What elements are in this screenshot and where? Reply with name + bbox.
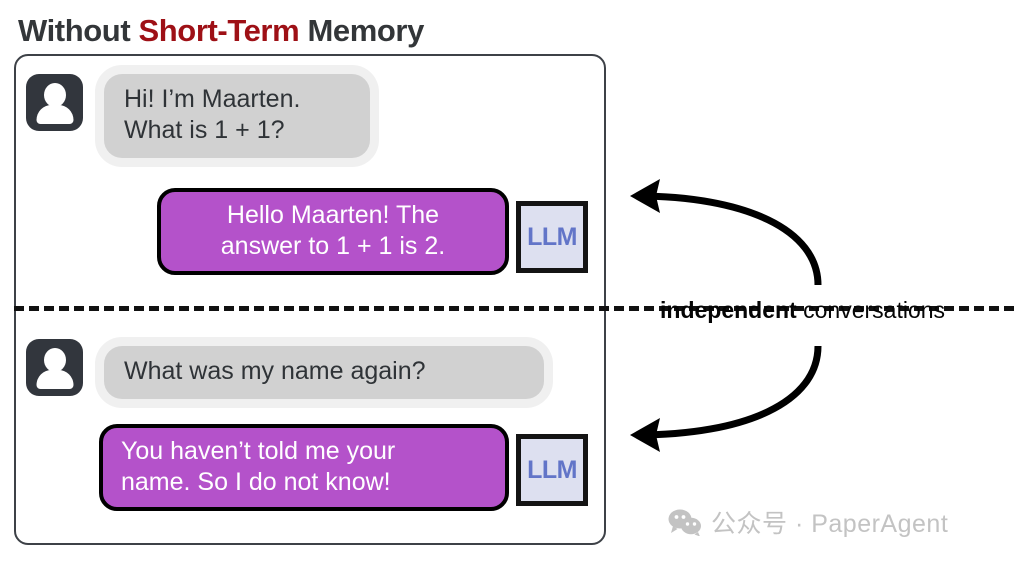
avatar-head-icon — [44, 348, 66, 372]
llm-box-label-2: LLM — [527, 456, 577, 485]
llm-message-line-1: You haven’t told me your — [121, 436, 487, 467]
title-prefix: Without — [18, 13, 138, 48]
arrowhead-top-icon — [630, 179, 660, 213]
wechat-icon — [668, 509, 702, 536]
avatar-head-icon — [44, 83, 66, 107]
user-avatar-2 — [26, 339, 83, 396]
llm-message-bubble-2: You haven’t told me your name. So I do n… — [99, 424, 509, 511]
llm-message-bubble-1: Hello Maarten! The answer to 1 + 1 is 2. — [157, 188, 509, 275]
user-message-line-1: Hi! I’m Maarten. — [124, 84, 350, 115]
llm-box-2: LLM — [516, 434, 588, 506]
llm-message-line-2: answer to 1 + 1 is 2. — [179, 231, 487, 262]
llm-box-label-1: LLM — [527, 223, 577, 252]
user-message-line-2: What is 1 + 1? — [124, 115, 350, 146]
arrowhead-bottom-icon — [630, 418, 660, 452]
llm-box-1: LLM — [516, 201, 588, 273]
user-avatar — [26, 74, 83, 131]
page-title: Without Short-Term Memory — [18, 13, 424, 49]
user-message-line-1: What was my name again? — [124, 356, 524, 387]
avatar-body-icon — [36, 105, 73, 124]
avatar-body-icon — [36, 370, 73, 389]
user-message-bubble-1: Hi! I’m Maarten. What is 1 + 1? — [104, 74, 370, 158]
watermark: 公众号 · PaperAgent — [668, 504, 948, 540]
conversation-panel: Hi! I’m Maarten. What is 1 + 1? Hello Ma… — [14, 54, 606, 545]
diagram-canvas: Without Short-Term Memory Hi! I’m Maarte… — [0, 0, 1032, 568]
title-suffix: Memory — [299, 13, 424, 48]
watermark-text: 公众号 · PaperAgent — [711, 504, 948, 540]
annotation-emphasis: independent — [660, 297, 797, 323]
annotation-label: independent conversations — [660, 297, 945, 324]
llm-message-line-2: name. So I do not know! — [121, 467, 487, 498]
annotation-rest: conversations — [797, 297, 945, 323]
title-accent: Short-Term — [138, 13, 299, 48]
arrow-path-top — [636, 196, 818, 285]
user-message-bubble-2: What was my name again? — [104, 346, 544, 399]
arrow-path-bottom — [636, 346, 818, 435]
llm-message-line-1: Hello Maarten! The — [179, 200, 487, 231]
